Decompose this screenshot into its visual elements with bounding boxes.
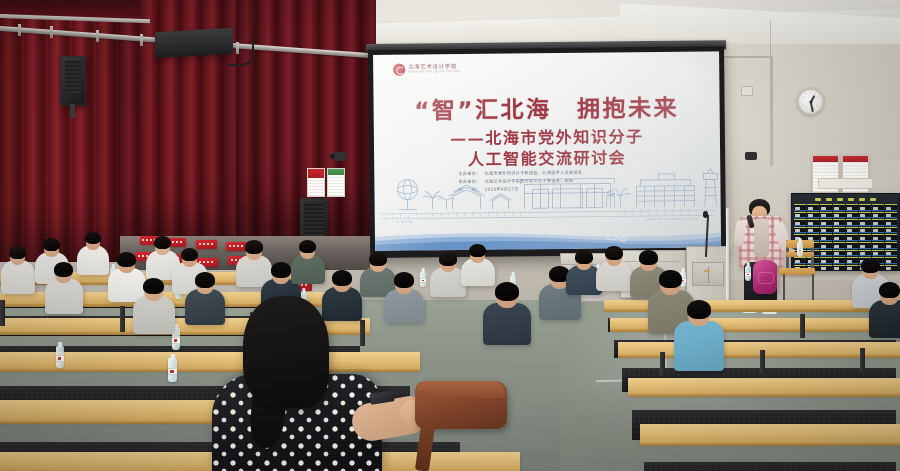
key-slot[interactable] [872,227,884,234]
cityscape-illustration: 北 海 印 象 BEIHAI ART AND DESIGN COLLEGE [374,165,721,231]
desk-edge [640,443,900,446]
water-bottle [797,242,803,257]
key-slot[interactable] [859,219,871,226]
key-slot[interactable] [794,257,806,264]
key-slot[interactable] [846,265,858,271]
microphone-head-icon [703,211,708,218]
key-slot[interactable] [885,204,897,211]
key-slot[interactable] [846,234,858,241]
bottle-label [56,355,64,362]
key-slot[interactable] [846,227,858,234]
key-slot[interactable] [885,219,897,226]
curtain-hook [96,30,99,42]
key-slot[interactable] [846,242,858,249]
curtain-hook [140,34,143,46]
speaker-bracket [70,104,75,118]
lecture-hall-photo: 北海艺术设计学院 BEIHAI ART AND DESIGN COLLEGE “… [0,0,900,471]
key-slot[interactable] [833,242,845,249]
key-slot[interactable] [807,219,819,226]
desk-leg [760,350,765,374]
desk-edge [0,369,420,372]
key-slot[interactable] [820,204,832,211]
ceiling-cable [228,36,254,66]
desk-leg [120,306,125,332]
information-poster [327,168,345,197]
attendee [496,282,544,348]
chair-leg [812,274,814,300]
slide-logo: 北海艺术设计学院 BEIHAI ART AND DESIGN COLLEGE [393,63,459,76]
key-slot[interactable] [807,204,819,211]
key-slot[interactable] [833,265,845,271]
key-slot[interactable] [794,204,806,211]
attendee-hair [495,282,519,301]
key-slot[interactable] [820,250,832,257]
key-slot[interactable] [820,257,832,264]
key-slot[interactable] [833,234,845,241]
key-slot[interactable] [833,227,845,234]
poster-body [328,175,344,197]
key-slot[interactable] [846,250,858,257]
key-slot[interactable] [820,234,832,241]
stage-curtain-left [0,0,120,262]
attendee-hair [9,246,26,259]
attendee-torso [322,287,362,321]
key-slot[interactable] [820,265,832,271]
attendee [395,272,435,326]
seat-back [644,462,896,471]
slide-wave-band [375,227,721,251]
desk-leg [800,314,805,338]
attendee-hair [439,252,457,266]
attendee-torso [483,303,531,345]
key-slot[interactable] [833,257,845,264]
attendee-torso [869,300,900,338]
attendee-hair [143,278,164,294]
attendee-torso [133,296,175,334]
attendee-hair [659,270,682,288]
attendee [300,240,334,287]
key-slot[interactable] [833,219,845,226]
key-slot[interactable] [807,227,819,234]
key-slot[interactable] [872,219,884,226]
key-slot[interactable] [833,250,845,257]
wall-camera-icon [333,152,346,161]
attendee-hair [332,270,352,286]
desk-edge [628,394,900,397]
key-slot[interactable] [859,250,871,257]
poster-header [308,169,324,178]
key-slot[interactable] [859,212,871,219]
key-slot[interactable] [794,219,806,226]
wall-outlet [741,86,753,96]
attendee-hair [195,272,215,288]
wave-svg [375,227,721,251]
pa-speaker-icon [60,56,86,106]
projection-screen-surface: 北海艺术设计学院 BEIHAI ART AND DESIGN COLLEGE “… [373,51,721,251]
key-slot[interactable] [833,204,845,211]
bottle-label [168,368,177,375]
key-slot[interactable] [859,242,871,249]
key-slot[interactable] [846,204,858,211]
attendee-torso [1,260,35,294]
backpack [753,260,777,294]
attendee-hair [85,232,101,244]
wall-conduit [770,56,772,166]
poster-body [308,178,324,197]
left-wall-posters [307,168,345,197]
key-slot[interactable] [885,242,897,249]
attendee-hair [861,258,880,273]
key-slot[interactable] [872,250,884,257]
key-slot[interactable] [885,250,897,257]
wall-clock-icon [797,88,824,115]
slide-title-block: “智”汇北海 拥抱未来 ——北海市党外知识分子 人工智能交流研讨会 [374,96,721,172]
key-slot[interactable] [872,212,884,219]
key-slot[interactable] [833,212,845,219]
attendee-hair [54,262,73,277]
cityscape-caption-left: 北 海 印 象 [397,220,412,224]
key-slot[interactable] [846,257,858,264]
desk-leg [860,348,865,372]
name-placard [226,242,247,251]
curtain-hook [18,24,21,36]
wall-camera-right-icon [745,152,757,160]
attendee-hair [687,300,711,319]
attendee-hair [271,262,291,278]
key-slot[interactable] [859,204,871,211]
clock-center-pin [809,100,812,103]
wall-seam-secondary [770,20,771,60]
attendee-hair [575,250,593,264]
key-slot[interactable] [859,227,871,234]
key-slot[interactable] [846,212,858,219]
equipment-stand-pole [726,208,729,308]
water-bottle [56,346,64,368]
key-slot[interactable] [807,212,819,219]
attendee-torso [674,321,724,371]
attendee [55,262,93,317]
key-board-sign [818,178,873,189]
key-slot[interactable] [820,212,832,219]
cityscape-caption-right: BEIHAI ART AND DESIGN COLLEGE [646,218,699,222]
attendee-hair [117,252,136,267]
bottle-label [172,337,180,344]
bottle-label [745,272,751,277]
foreground-attendee-head [243,296,329,408]
attendee-hair [469,244,486,257]
curtain-hook [50,26,53,38]
handbag-flap [417,381,505,398]
key-slot[interactable] [846,219,858,226]
desk-leg [660,352,665,376]
logo-name-en: BEIHAI ART AND DESIGN COLLEGE [408,71,459,74]
water-bottle [168,358,177,382]
fire-safety-poster [307,168,325,197]
attendee [196,272,236,328]
key-slot[interactable] [885,227,897,234]
attendee-hair [879,282,900,298]
attendee-hair [639,250,658,265]
key-slot[interactable] [885,212,897,219]
attendee [688,300,738,374]
key-slot[interactable] [872,234,884,241]
attendee-torso [45,278,83,314]
key-slot[interactable] [872,242,884,249]
attendee-hair [394,272,414,288]
desk-leg [0,300,5,326]
projection-screen-frame: 北海艺术设计学院 BEIHAI ART AND DESIGN COLLEGE “… [368,46,726,258]
attendee-torso [185,289,225,325]
ceiling-av-unit [155,28,233,58]
key-slot[interactable] [885,234,897,241]
water-bottle [745,266,751,281]
key-slot[interactable] [872,204,884,211]
presenter-inner-top [754,219,769,257]
attendee-hair [245,240,263,254]
desk-surface [640,424,900,443]
attendee-hair [369,252,387,266]
key-board-header [794,198,897,202]
attendee-hair [181,248,198,261]
cityscape-svg [374,165,721,231]
institution-seal-icon [393,64,405,76]
attendee-hair [605,246,623,260]
key-slot[interactable] [794,212,806,219]
chair-leg [783,274,785,300]
key-slot[interactable] [820,242,832,249]
slide-title-main: “智”汇北海 拥抱未来 [374,96,720,125]
key-slot[interactable] [794,227,806,234]
attendee-hair [299,240,316,253]
key-slot[interactable] [820,219,832,226]
attendee-hair [43,238,60,251]
attendee-torso [384,289,424,323]
attendee-hair [154,236,171,249]
key-slot[interactable] [859,234,871,241]
logo-text: 北海艺术设计学院 BEIHAI ART AND DESIGN COLLEGE [408,65,459,74]
key-slot[interactable] [820,227,832,234]
desk-surface [628,378,900,394]
attendee [880,282,900,341]
